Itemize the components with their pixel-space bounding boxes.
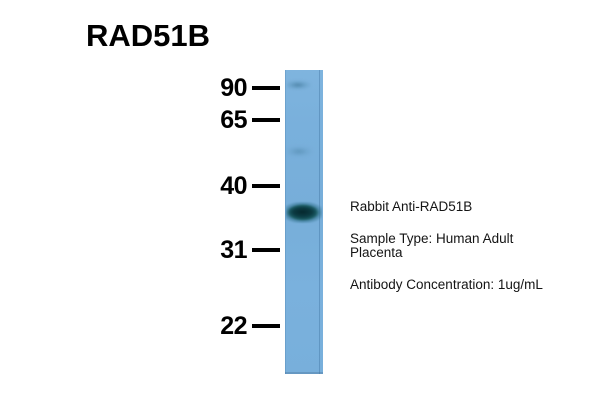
marker-label-90: 90: [220, 76, 247, 101]
marker-label-65: 65: [220, 108, 247, 133]
marker-31: 31: [205, 235, 280, 265]
marker-22: 22: [205, 311, 280, 341]
annotation-concentration: Antibody Concentration: 1ug/mL: [350, 278, 598, 292]
western-blot-figure: RAD51B 90 65 40 31 22 Rabbit Anti-RAD51B…: [0, 0, 600, 400]
annotation-sample-type: Sample Type: Human Adult Placenta: [350, 232, 598, 260]
marker-40: 40: [205, 171, 280, 201]
lane-bottom-edge: [285, 372, 323, 374]
marker-label-31: 31: [220, 238, 247, 263]
marker-tick-90: [252, 86, 280, 90]
marker-label-40: 40: [220, 174, 247, 199]
annotation-block: Rabbit Anti-RAD51B Sample Type: Human Ad…: [350, 200, 598, 292]
marker-tick-22: [252, 324, 280, 328]
gel-lane: [285, 70, 323, 374]
marker-label-22: 22: [220, 314, 247, 339]
page-title: RAD51B: [0, 20, 600, 51]
primary-protein-band-core: [289, 206, 316, 218]
marker-90: 90: [205, 73, 280, 103]
marker-tick-31: [252, 248, 280, 252]
blot-title-text: RAD51B: [86, 18, 210, 53]
marker-65: 65: [205, 105, 280, 135]
marker-tick-40: [252, 184, 280, 188]
annotation-antibody: Rabbit Anti-RAD51B: [350, 200, 598, 214]
faint-band-upper: [287, 80, 311, 90]
marker-tick-65: [252, 118, 280, 122]
faint-band-mid: [287, 146, 312, 157]
